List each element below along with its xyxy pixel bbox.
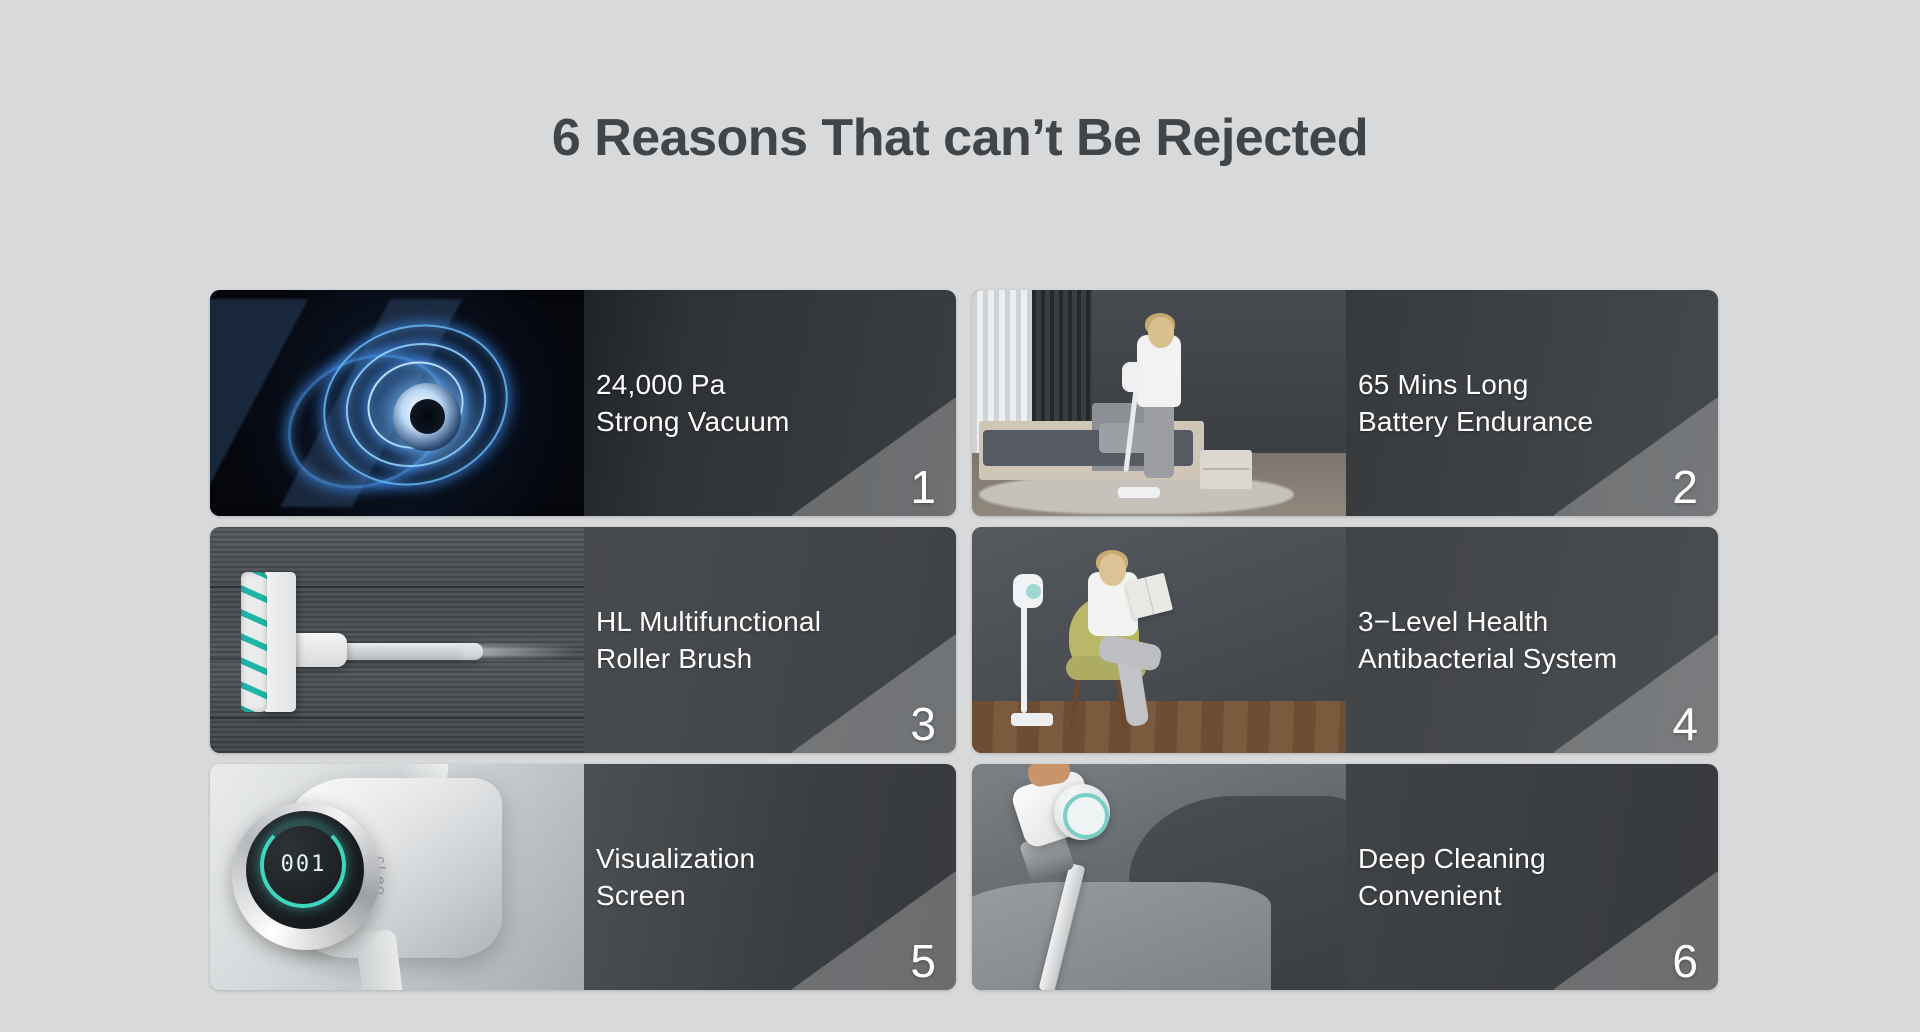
wood-floor — [972, 701, 1346, 753]
vacuum-display-dial — [1054, 784, 1110, 840]
reasons-grid: 24,000 Pa Strong Vacuum 1 — [210, 290, 1718, 990]
reason-card-3[interactable]: HL Multifunctional Roller Brush 3 — [210, 527, 956, 753]
vacuum-wand — [1021, 595, 1027, 713]
reason-number-2: 2 — [1672, 464, 1698, 510]
person-legs — [1144, 396, 1174, 478]
reason-card-4[interactable]: 3−Level Health Antibacterial System 4 — [972, 527, 1718, 753]
reason-number-1: 1 — [910, 464, 936, 510]
reason-label-1: 24,000 Pa Strong Vacuum — [596, 366, 790, 440]
nightstand — [1200, 450, 1252, 488]
room-wall — [972, 527, 1346, 701]
page-title: 6 Reasons That can’t Be Rejected — [0, 112, 1920, 164]
vacuum-tube — [333, 643, 483, 660]
reason-card-5[interactable]: cLeo 001 Visualization Screen 5 — [210, 764, 956, 990]
reason-label-4: 3−Level Health Antibacterial System — [1358, 603, 1617, 677]
reason-label-3: HL Multifunctional Roller Brush — [596, 603, 821, 677]
person-head — [1148, 317, 1174, 348]
brush-housing — [262, 572, 296, 712]
reason-number-6: 6 — [1672, 938, 1698, 984]
vacuum-floor-head — [1118, 487, 1160, 498]
promo-page: 6 Reasons That can’t Be Rejected 24,000 … — [0, 0, 1920, 1032]
reason-label-2: 65 Mins Long Battery Endurance — [1358, 366, 1593, 440]
reason-label-5: Visualization Screen — [596, 840, 755, 914]
bedroom-photo — [972, 290, 1346, 516]
reason-card-6[interactable]: Deep Cleaning Convenient 6 — [972, 764, 1718, 990]
roller-bristle-strip — [241, 572, 267, 712]
reason-number-4: 4 — [1672, 701, 1698, 747]
reason-number-3: 3 — [910, 701, 936, 747]
sofa-cushion — [972, 882, 1271, 990]
sofa-cleaning-photo — [972, 764, 1346, 990]
vacuum-display-icon — [1026, 584, 1041, 599]
reason-card-2[interactable]: 65 Mins Long Battery Endurance 2 — [972, 290, 1718, 516]
vacuum-floor-head — [1011, 713, 1053, 726]
reason-card-1[interactable]: 24,000 Pa Strong Vacuum 1 — [210, 290, 956, 516]
motor-impeller-hub — [393, 383, 461, 451]
reason-label-6: Deep Cleaning Convenient — [1358, 840, 1546, 914]
reading-room-photo — [972, 527, 1346, 753]
vacuum-motor-unit — [1122, 362, 1144, 392]
wood-plank-seam — [210, 717, 584, 719]
motor-photo — [210, 290, 584, 516]
reason-number-5: 5 — [910, 938, 936, 984]
display-readout: 001 — [260, 822, 346, 908]
display-closeup-photo: cLeo 001 — [210, 764, 584, 990]
person-head — [1099, 554, 1126, 586]
roller-brush-photo — [210, 527, 584, 753]
